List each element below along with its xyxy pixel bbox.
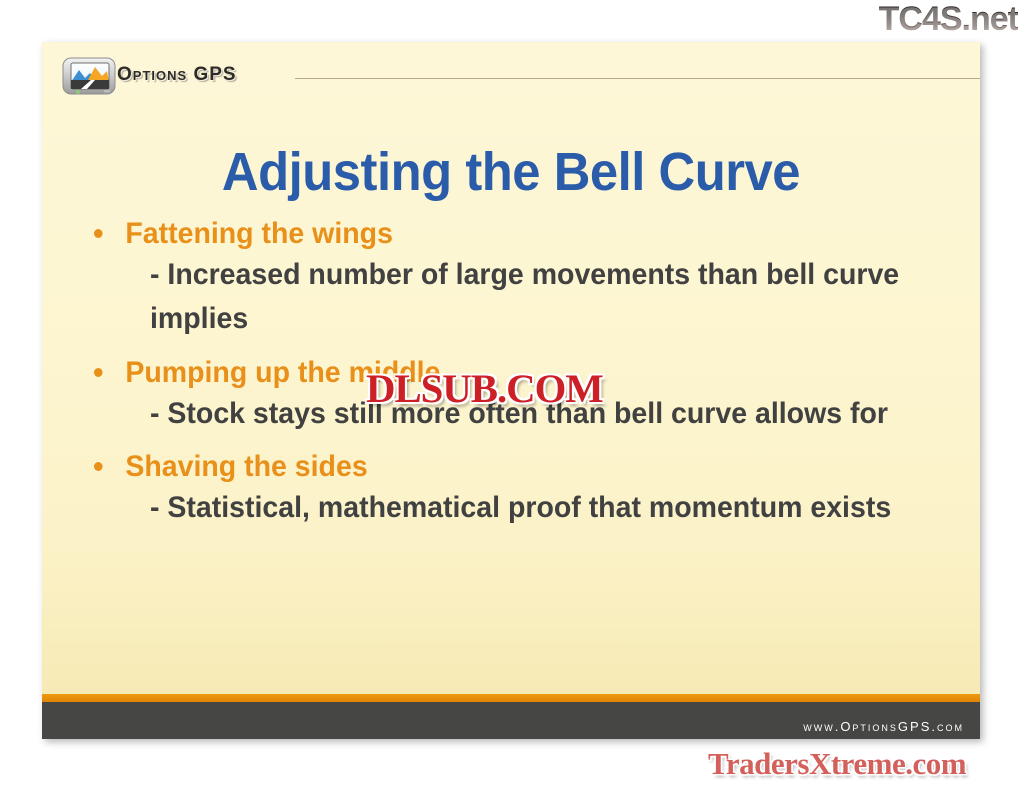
bullet-detail: - Increased number of large movements th… <box>150 253 910 341</box>
footer-bar: www.OptionsGPS.com <box>42 702 980 739</box>
bullet-detail: - Statistical, mathematical proof that m… <box>150 486 910 530</box>
slide-header: Options GPS <box>42 42 980 104</box>
bullet-dot-icon <box>94 368 103 377</box>
list-item: Fattening the wings - Increased number o… <box>94 214 950 341</box>
header-divider <box>295 78 980 79</box>
footer-website-url: www.OptionsGPS.com <box>803 719 964 734</box>
bullet-dot-icon <box>94 462 103 471</box>
bullet-heading-row: Fattening the wings <box>94 214 907 253</box>
brand-wordmark: Options GPS <box>117 64 237 86</box>
slide-footer: www.OptionsGPS.com <box>42 694 980 739</box>
footer-accent-bar <box>42 694 980 702</box>
watermark-dlsub: DLSUB.COM <box>366 369 603 409</box>
gps-device-icon <box>61 54 121 100</box>
page-title: Adjusting the Bell Curve <box>70 144 952 201</box>
bullet-dot-icon <box>94 229 103 238</box>
watermark-tradersxtreme: TradersXtreme.com <box>708 748 966 779</box>
bullet-heading: Fattening the wings <box>125 214 393 253</box>
list-item: Shaving the sides - Statistical, mathema… <box>94 447 950 530</box>
bullet-heading: Shaving the sides <box>125 447 367 486</box>
bullet-heading-row: Shaving the sides <box>94 447 907 486</box>
site-brand-tc4s: TC4S.net <box>879 2 1018 36</box>
